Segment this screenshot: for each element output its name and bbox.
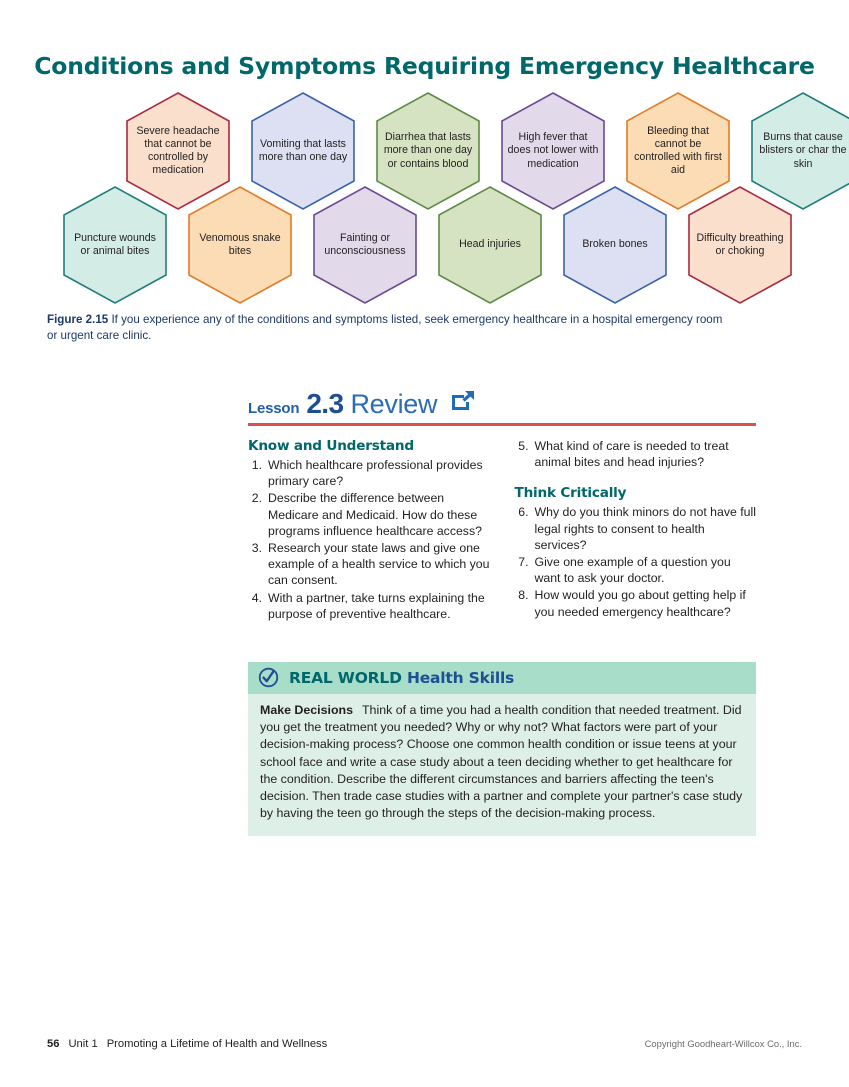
question-section-heading: Think Critically [515,485,757,501]
question-text: Describe the difference between Medicare… [268,490,490,539]
footer-unit: Unit 1 [68,1038,97,1050]
hexagon-cell: Head injuries [438,186,542,304]
question-number: 4. [248,590,268,622]
question-item: 2.Describe the difference between Medica… [248,490,490,539]
footer-unit-title: Promoting a Lifetime of Health and Welln… [107,1038,328,1050]
question-item: 1.Which healthcare professional provides… [248,457,490,489]
footer-left-group: 56 Unit 1 Promoting a Lifetime of Health… [47,1038,327,1050]
question-text: With a partner, take turns explaining th… [268,590,490,622]
hexagon-label: Fainting or unconsciousness [313,232,417,258]
question-number: 6. [515,504,535,553]
real-world-activity-text: Think of a time you had a health conditi… [260,703,742,820]
hexagon-label: High fever that does not lower with medi… [501,131,605,171]
hexagon-label: Burns that cause blisters or char the sk… [751,131,849,171]
question-number: 5. [515,438,535,470]
question-number: 8. [515,587,535,619]
hexagon-label: Venomous snake bites [188,232,292,258]
external-link-icon[interactable] [450,389,476,416]
question-text: How would you go about getting help if y… [535,587,757,619]
lesson-review-section: Lesson 2.3 Review Know and Understand1.W… [248,388,756,623]
question-number: 7. [515,554,535,586]
question-item: 5.What kind of care is needed to treat a… [515,438,757,470]
question-item: 8.How would you go about getting help if… [515,587,757,619]
real-world-activity-lead: Make Decisions [260,703,353,717]
question-text: Why do you think minors do not have full… [535,504,757,553]
review-column-right: 5.What kind of care is needed to treat a… [515,438,757,623]
page-footer: 56 Unit 1 Promoting a Lifetime of Health… [47,1038,802,1050]
figure-caption: Figure 2.15 If you experience any of the… [47,312,727,343]
question-number: 2. [248,490,268,539]
hexagon-label: Diarrhea that lasts more than one day or… [376,131,480,171]
question-text: Give one example of a question you want … [535,554,757,586]
question-text: Research your state laws and give one ex… [268,540,490,589]
question-list: 1.Which healthcare professional provides… [248,457,490,622]
hexagon-label: Severe headache that cannot be controlle… [126,125,230,178]
question-item: 6.Why do you think minors do not have fu… [515,504,757,553]
question-item: 7.Give one example of a question you wan… [515,554,757,586]
review-label: Review [350,389,437,420]
check-circle-icon [258,667,279,688]
real-world-box-header: REAL WORLD Health Skills [248,662,756,694]
review-question-columns: Know and Understand1.Which healthcare pr… [248,438,756,623]
question-item: 4.With a partner, take turns explaining … [248,590,490,622]
hexagon-label: Broken bones [563,238,667,251]
figure-caption-label: Figure 2.15 [47,313,108,326]
review-column-left: Know and Understand1.Which healthcare pr… [248,438,490,623]
hexagon-diagram: Severe headache that cannot be controlle… [40,90,810,305]
hexagon-label: Difficulty breathing or choking [688,232,792,258]
lesson-number: 2.3 [306,388,343,420]
question-text: Which healthcare professional provides p… [268,457,490,489]
real-world-title-secondary: Health Skills [407,669,514,687]
question-list: 5.What kind of care is needed to treat a… [515,438,757,470]
question-item: 3.Research your state laws and give one … [248,540,490,589]
question-list: 6.Why do you think minors do not have fu… [515,504,757,619]
lesson-review-header: Lesson 2.3 Review [248,388,756,426]
hexagon-cell: Puncture wounds or animal bites [63,186,167,304]
hexagon-label: Head injuries [438,238,542,251]
question-section-heading: Know and Understand [248,438,490,454]
hexagon-label: Bleeding that cannot be controlled with … [626,125,730,178]
question-text: What kind of care is needed to treat ani… [535,438,757,470]
real-world-box-title: REAL WORLD Health Skills [289,669,514,687]
hexagon-label: Puncture wounds or animal bites [63,232,167,258]
real-world-title-primary: REAL WORLD [289,669,402,687]
hexagon-cell: Fainting or unconsciousness [313,186,417,304]
hexagon-label: Vomiting that lasts more than one day [251,138,355,164]
hexagon-cell: Venomous snake bites [188,186,292,304]
hexagon-cell: Difficulty breathing or choking [688,186,792,304]
figure-title: Conditions and Symptoms Requiring Emerge… [0,52,849,80]
hexagon-cell: Broken bones [563,186,667,304]
real-world-box-body: Make DecisionsThink of a time you had a … [248,694,756,836]
real-world-health-skills-box: REAL WORLD Health Skills Make DecisionsT… [248,662,756,836]
figure-caption-text: If you experience any of the conditions … [47,313,722,342]
footer-copyright: Copyright Goodheart-Willcox Co., Inc. [645,1038,802,1049]
question-number: 3. [248,540,268,589]
lesson-label: Lesson [248,400,299,417]
page-number: 56 [47,1038,59,1050]
question-number: 1. [248,457,268,489]
